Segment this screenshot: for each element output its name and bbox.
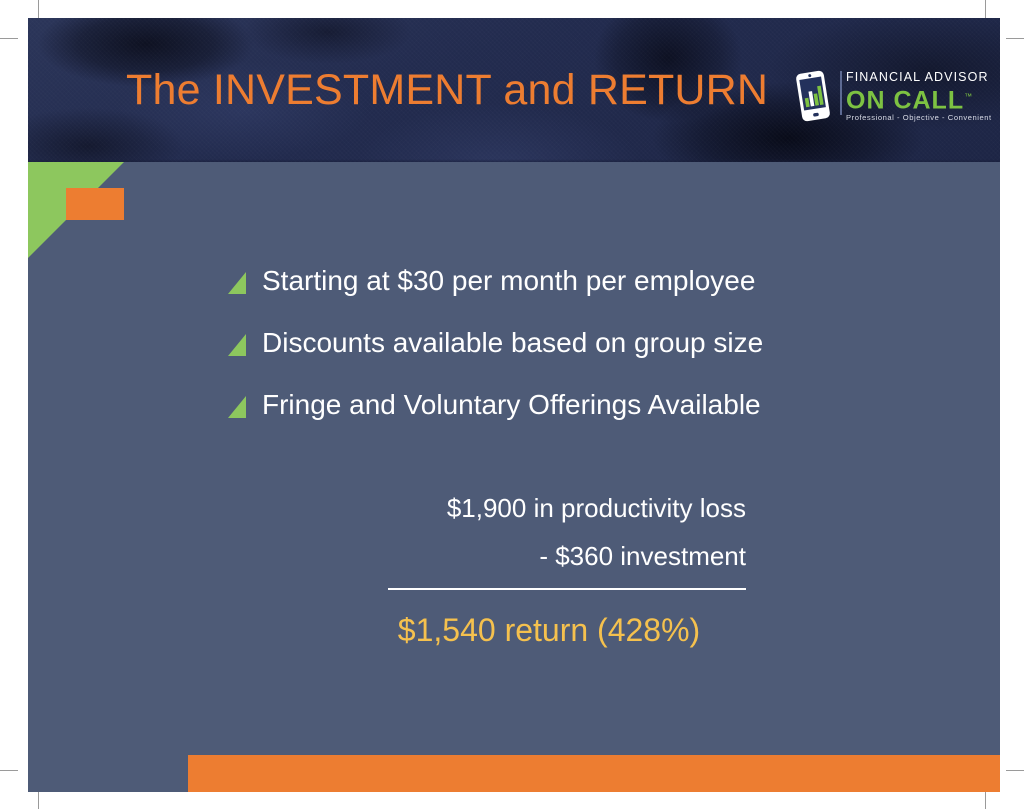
list-item: Starting at $30 per month per employee (228, 264, 868, 300)
banner-bottom-edge (28, 159, 1000, 162)
decorative-orange-square (66, 188, 124, 220)
crop-mark-bottom-left-horizontal (0, 770, 18, 771)
crop-mark-top-right-vertical (985, 0, 986, 18)
bullet-list: Starting at $30 per month per employee D… (228, 264, 868, 450)
logo-line-on-call: ON CALL™ (846, 84, 978, 113)
triangle-bullet-icon (228, 272, 246, 294)
triangle-bullet-icon (228, 396, 246, 418)
bullet-text: Discounts available based on group size (262, 326, 763, 360)
logo-wordmark: FINANCIAL ADVISOR ON CALL™ Professional … (846, 70, 978, 123)
logo-tagline: Professional - Objective - Convenient (846, 113, 978, 123)
logo-divider (840, 71, 842, 115)
smartphone-bar-chart-icon (790, 67, 836, 125)
list-item: Discounts available based on group size (228, 326, 868, 362)
list-item: Fringe and Voluntary Offerings Available (228, 388, 868, 424)
presentation-slide: The INVESTMENT and RETURN FINANCIAL ADVI… (28, 18, 1000, 792)
crop-mark-top-left-horizontal (0, 38, 18, 39)
bottom-accent-bar (188, 755, 1000, 792)
calculation-result: $1,540 return (428%) (358, 610, 748, 650)
trademark-symbol: ™ (964, 92, 972, 101)
bullet-text: Fringe and Voluntary Offerings Available (262, 388, 761, 422)
bullet-text: Starting at $30 per month per employee (262, 264, 755, 298)
crop-mark-top-left-vertical (38, 0, 39, 18)
crop-mark-top-right-horizontal (1006, 38, 1024, 39)
calculation-block: $1,900 in productivity loss - $360 inves… (358, 484, 748, 650)
brand-logo: FINANCIAL ADVISOR ON CALL™ Professional … (788, 65, 978, 127)
calculation-divider-rule (388, 588, 746, 590)
triangle-bullet-icon (228, 334, 246, 356)
crop-mark-bottom-right-horizontal (1006, 770, 1024, 771)
crop-mark-bottom-right-vertical (985, 792, 986, 809)
calculation-line-investment: - $360 investment (358, 532, 748, 580)
calculation-line-productivity-loss: $1,900 in productivity loss (358, 484, 748, 532)
logo-line-financial-advisor: FINANCIAL ADVISOR (846, 70, 978, 84)
crop-mark-bottom-left-vertical (38, 792, 39, 809)
slide-title: The INVESTMENT and RETURN (126, 66, 768, 115)
logo-on-call-text: ON CALL (846, 86, 964, 114)
